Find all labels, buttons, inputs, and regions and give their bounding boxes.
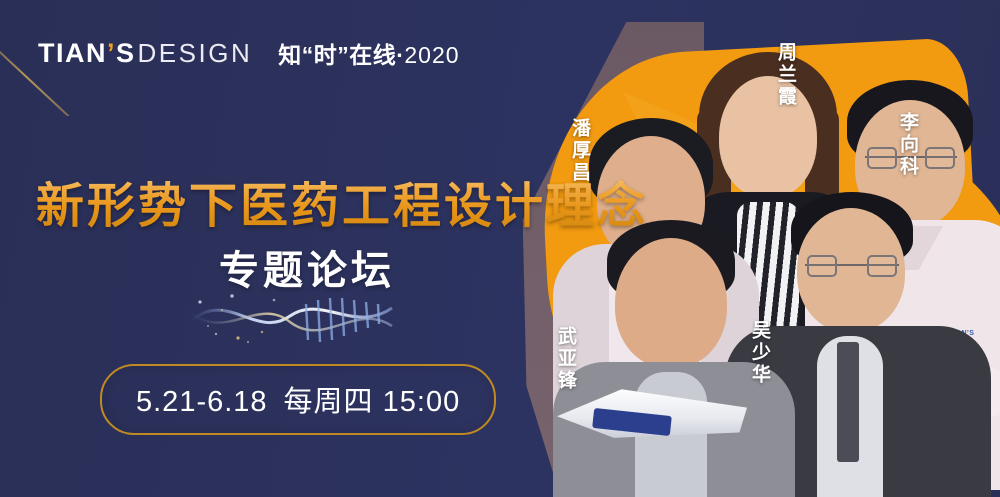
speaker-name-zhoulanxia: 周兰霞 — [775, 42, 795, 108]
speaker-name-lixiangke: 李向科 — [897, 112, 917, 178]
brand-tagline-cn: 知“时”在线· — [278, 42, 404, 68]
logo-tians: TIAN’S DESIGN — [38, 38, 252, 69]
eyeglasses-icon — [805, 264, 899, 266]
promo-banner: TIAN’S — [0, 0, 1000, 497]
schedule-recurrence: 每周四 — [284, 386, 374, 418]
face — [615, 238, 727, 368]
brand-logo: TIAN’S DESIGN 知“时”在线·2020 — [38, 36, 460, 70]
logo-apostrophe: ’ — [107, 38, 116, 69]
logo-design-text: DESIGN — [138, 38, 253, 69]
brand-tagline: 知“时”在线·2020 — [278, 36, 459, 70]
schedule-date-range: 5.21-6.18 — [136, 386, 268, 418]
logo-tians-s: S — [116, 38, 136, 69]
speaker-name-wuyafeng: 武亚锋 — [555, 326, 575, 392]
schedule-time: 15:00 — [383, 386, 461, 418]
speakers-photo-collage: TIAN’S — [497, 0, 1000, 497]
dna-helix-icon — [186, 282, 396, 354]
brand-tagline-year: 2020 — [404, 42, 459, 68]
speaker-name-wushaohua: 吴少华 — [749, 320, 769, 386]
schedule-badge: 5.21-6.18每周四 15:00 — [100, 364, 496, 435]
logo-tians-text: TIAN — [38, 38, 107, 69]
page-title: 新形势下医药工程设计理念 — [36, 166, 648, 236]
necktie — [837, 342, 859, 462]
